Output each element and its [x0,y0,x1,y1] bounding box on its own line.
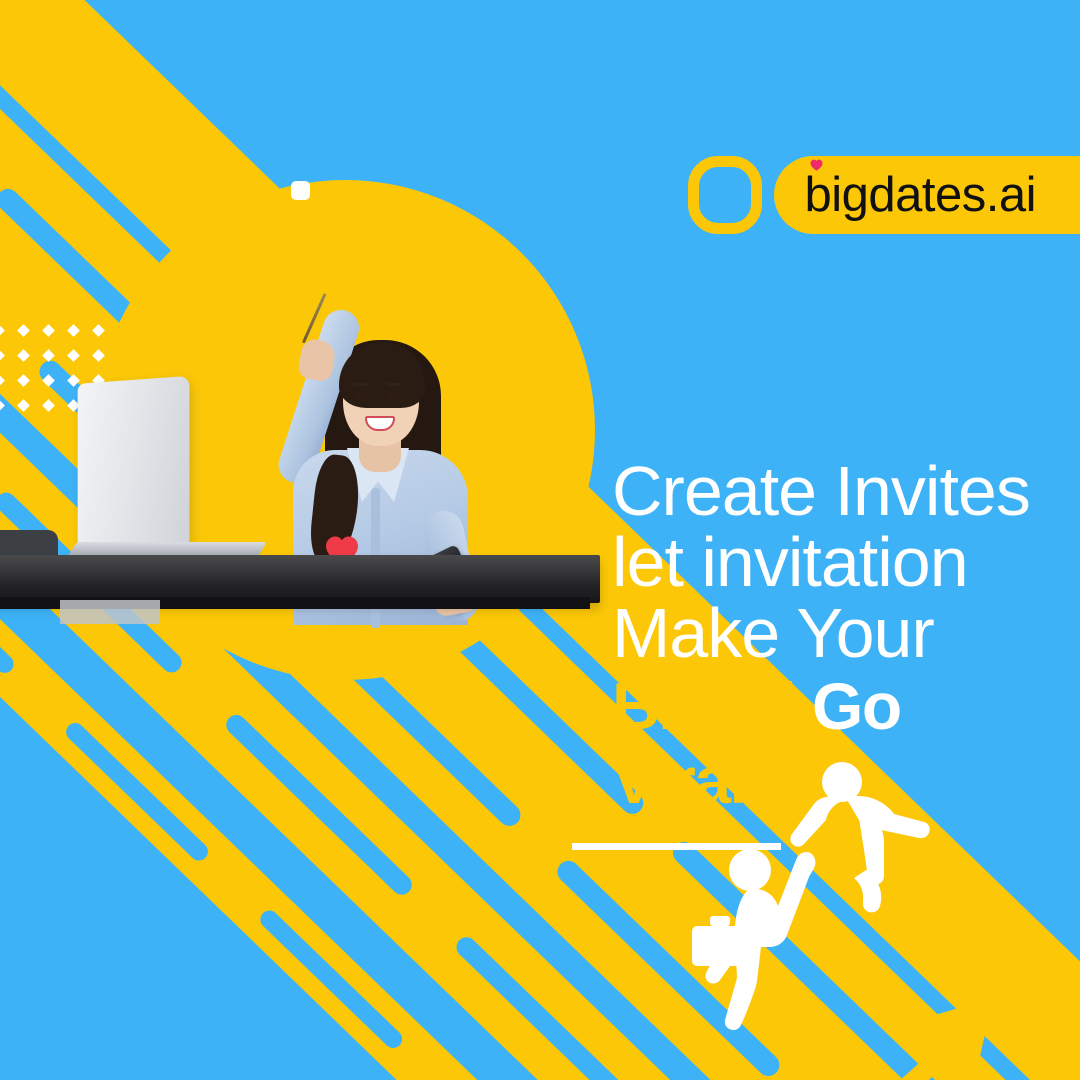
woman-figure [255,240,545,585]
desk-under-object [60,600,160,624]
upward-zigzag-arrow-illustration [660,730,1080,1080]
figure-helping [790,762,929,912]
eyebrow-right [386,383,401,386]
headline-line-1: Create Invites [612,456,1072,527]
growth-svg [660,730,1080,1080]
laptop-screen [78,376,190,559]
logo-wordmark: bigdates.ai [804,167,1060,223]
promo-canvas: bigdates.ai Create Invites let invitatio… [0,0,1080,1080]
eye-right [387,392,398,397]
logo-pill: bigdates.ai [774,156,1080,234]
raised-hand [297,337,337,382]
brand-logo[interactable]: bigdates.ai [688,156,1080,234]
figure-climbing [692,849,815,1030]
woman-celebrating-at-desk [0,180,620,605]
headline-line-2: let invitation [612,527,1072,598]
pen [302,293,327,344]
headline-line-3: Make Your [612,598,1072,669]
heart-dot-icon [810,158,823,170]
eyebrow-left [353,383,368,386]
ring-mark-icon [688,156,762,234]
arrow-shape [660,998,993,1080]
eye-left [355,392,366,397]
desk-surface [0,555,600,603]
